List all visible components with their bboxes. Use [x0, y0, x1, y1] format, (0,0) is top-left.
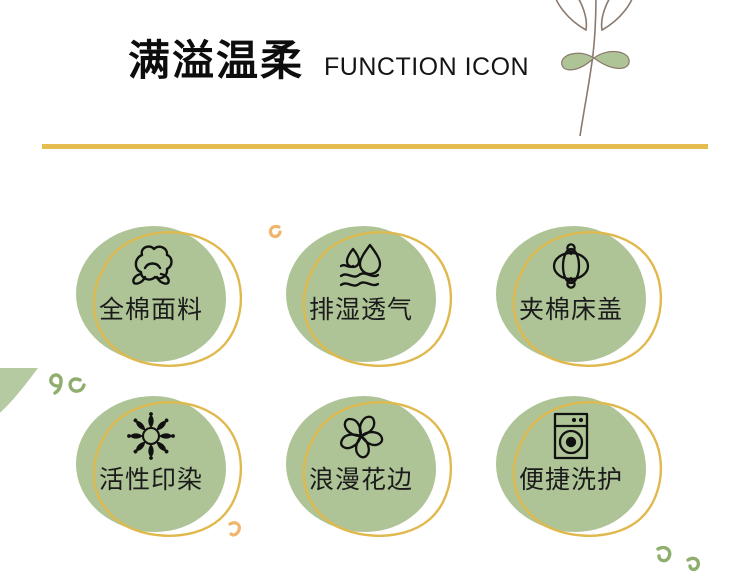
feature-card-cotton-fabric[interactable]: 全棉面料	[68, 220, 254, 370]
page-title-english: FUNCTION ICON	[324, 55, 529, 80]
feature-icon-grid: 全棉面料 排湿透气	[0, 208, 750, 558]
page-header: 满溢温柔 FUNCTION ICON	[0, 0, 750, 150]
feature-label: 夹棉床盖	[496, 296, 646, 324]
feature-card-moisture-wicking[interactable]: 排湿透气	[278, 220, 464, 370]
feature-label: 便捷洗护	[496, 466, 646, 494]
gold-divider-line	[42, 144, 708, 149]
page-title: 满溢温柔 FUNCTION ICON	[128, 40, 529, 82]
feature-card-romantic-lace[interactable]: 浪漫花边	[278, 390, 464, 540]
feature-label: 活性印染	[76, 466, 226, 494]
feature-label: 排湿透气	[286, 296, 436, 324]
feature-label: 全棉面料	[76, 296, 226, 324]
feature-card-reactive-dye[interactable]: 活性印染	[68, 390, 254, 540]
feature-label: 浪漫花边	[286, 466, 436, 494]
water-droplet-waves-icon	[286, 240, 436, 292]
pinwheel-flower-icon	[286, 410, 436, 462]
washing-machine-icon	[496, 410, 646, 462]
sunburst-dye-icon	[76, 410, 226, 462]
feature-card-easy-care[interactable]: 便捷洗护	[488, 390, 674, 540]
page-title-chinese: 满溢温柔	[128, 40, 304, 82]
feature-card-quilted-cover[interactable]: 夹棉床盖	[488, 220, 674, 370]
quilted-cover-icon	[496, 240, 646, 292]
cotton-boll-icon	[76, 240, 226, 292]
plant-sprout-illustration	[528, 0, 668, 136]
